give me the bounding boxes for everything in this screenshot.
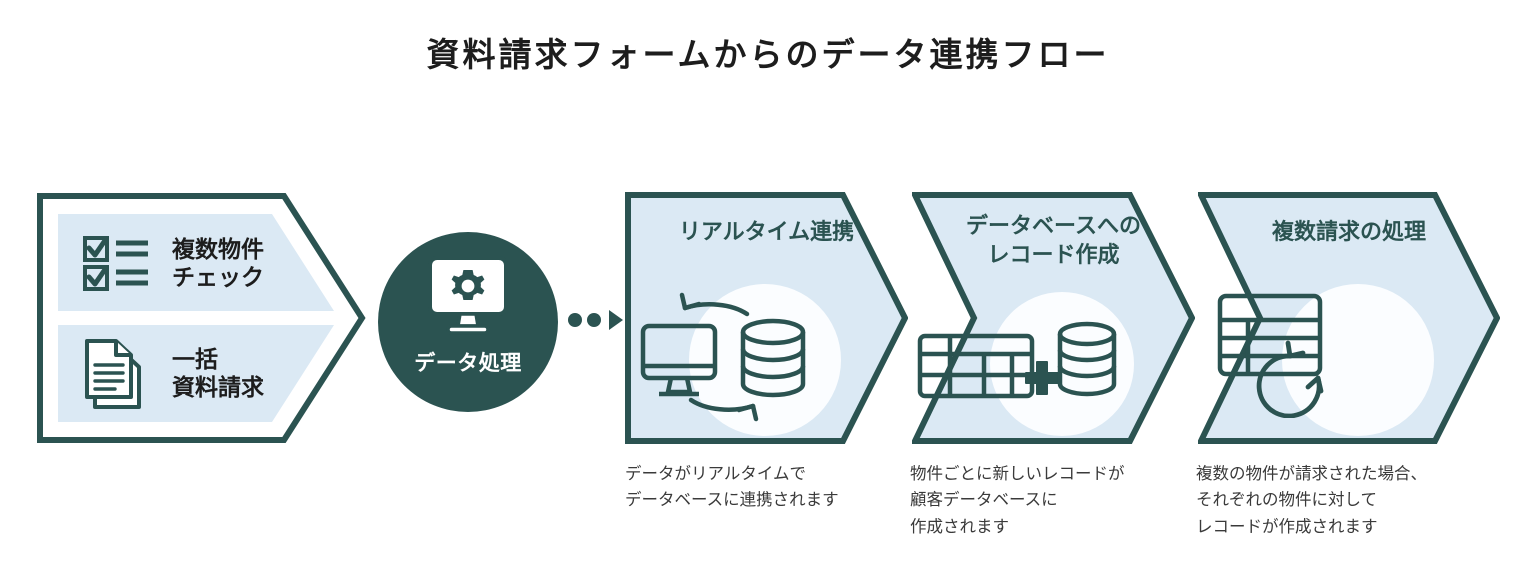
input-source-box: 複数物件 チェック xyxy=(36,192,366,444)
triangle-right-icon xyxy=(609,310,623,330)
data-processing-node: データ処理 xyxy=(378,232,558,412)
diagram-canvas: 資料請求フォームからのデータ連携フロー xyxy=(0,0,1536,587)
chevron-shape xyxy=(912,192,1195,444)
step-chevron-realtime: リアルタイム連携 xyxy=(625,192,908,444)
step-caption-record-create: 物件ごとに新しいレコードが 顧客データベースに 作成されます xyxy=(910,461,1180,540)
monitor-gear-icon xyxy=(420,254,516,343)
connector-dot xyxy=(587,313,601,327)
step-caption-multi-request: 複数の物件が請求された場合、 それぞれの物件に対して レコードが作成されます xyxy=(1196,461,1486,540)
page-title: 資料請求フォームからのデータ連携フロー xyxy=(0,28,1536,76)
input-box-shape xyxy=(36,192,366,444)
step-chevron-multi-request: 複数請求の処理 xyxy=(1198,192,1500,444)
chevron-shape xyxy=(625,192,908,444)
dots-arrow-connector xyxy=(567,305,627,335)
process-node-label: データ処理 xyxy=(414,347,522,377)
connector-dot xyxy=(568,313,582,327)
chevron-shape xyxy=(1198,192,1500,444)
step-caption-realtime: データがリアルタイムで データベースに連携されます xyxy=(625,461,895,514)
step-chevron-record-create: データベースへの レコード作成 xyxy=(912,192,1195,444)
